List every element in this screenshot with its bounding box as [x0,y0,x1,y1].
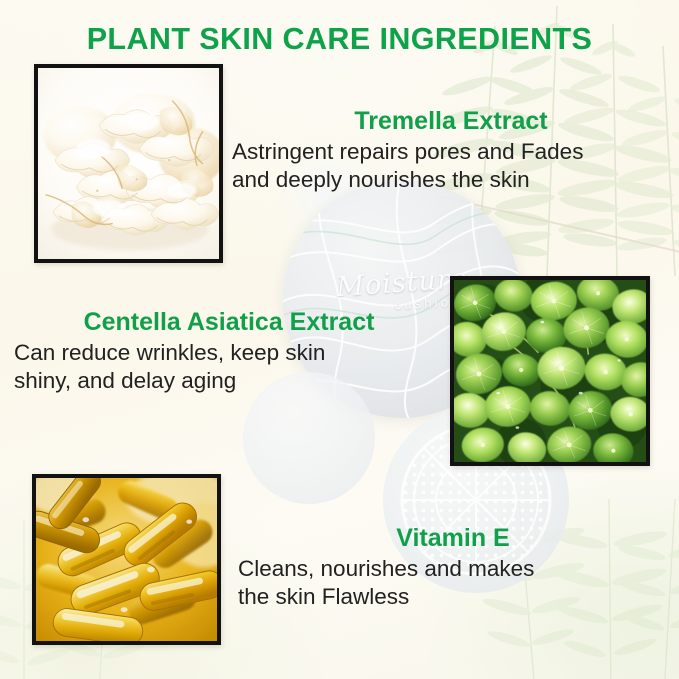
ingredient-description-tremella: Astringent repairs pores and Fades and d… [232,138,670,193]
ingredient-photo-centella [450,276,650,466]
ingredient-block-tremella: Tremella Extract Astringent repairs pore… [232,107,670,193]
ingredient-block-centella: Centella Asiatica Extract Can reduce wri… [14,308,444,394]
ingredient-photo-vitamine [32,474,221,645]
vitamin-e-gel-capsules-image [36,478,217,641]
ingredient-block-vitamine: Vitamin E Cleans, nourishes and makes th… [238,524,668,610]
ingredient-heading-vitamine: Vitamin E [238,524,668,552]
ingredient-heading-centella: Centella Asiatica Extract [14,308,444,336]
ingredient-photo-tremella [34,64,223,263]
ingredient-description-centella: Can reduce wrinkles, keep skin shiny, an… [14,339,444,394]
ingredient-description-vitamine: Cleans, nourishes and makes the skin Fla… [238,555,668,610]
ingredient-heading-tremella: Tremella Extract [232,107,670,135]
tremella-white-fungus-image [38,68,219,259]
centella-asiatica-leaves-image [454,280,646,462]
page-title: PLANT SKIN CARE INGREDIENTS [0,22,679,57]
